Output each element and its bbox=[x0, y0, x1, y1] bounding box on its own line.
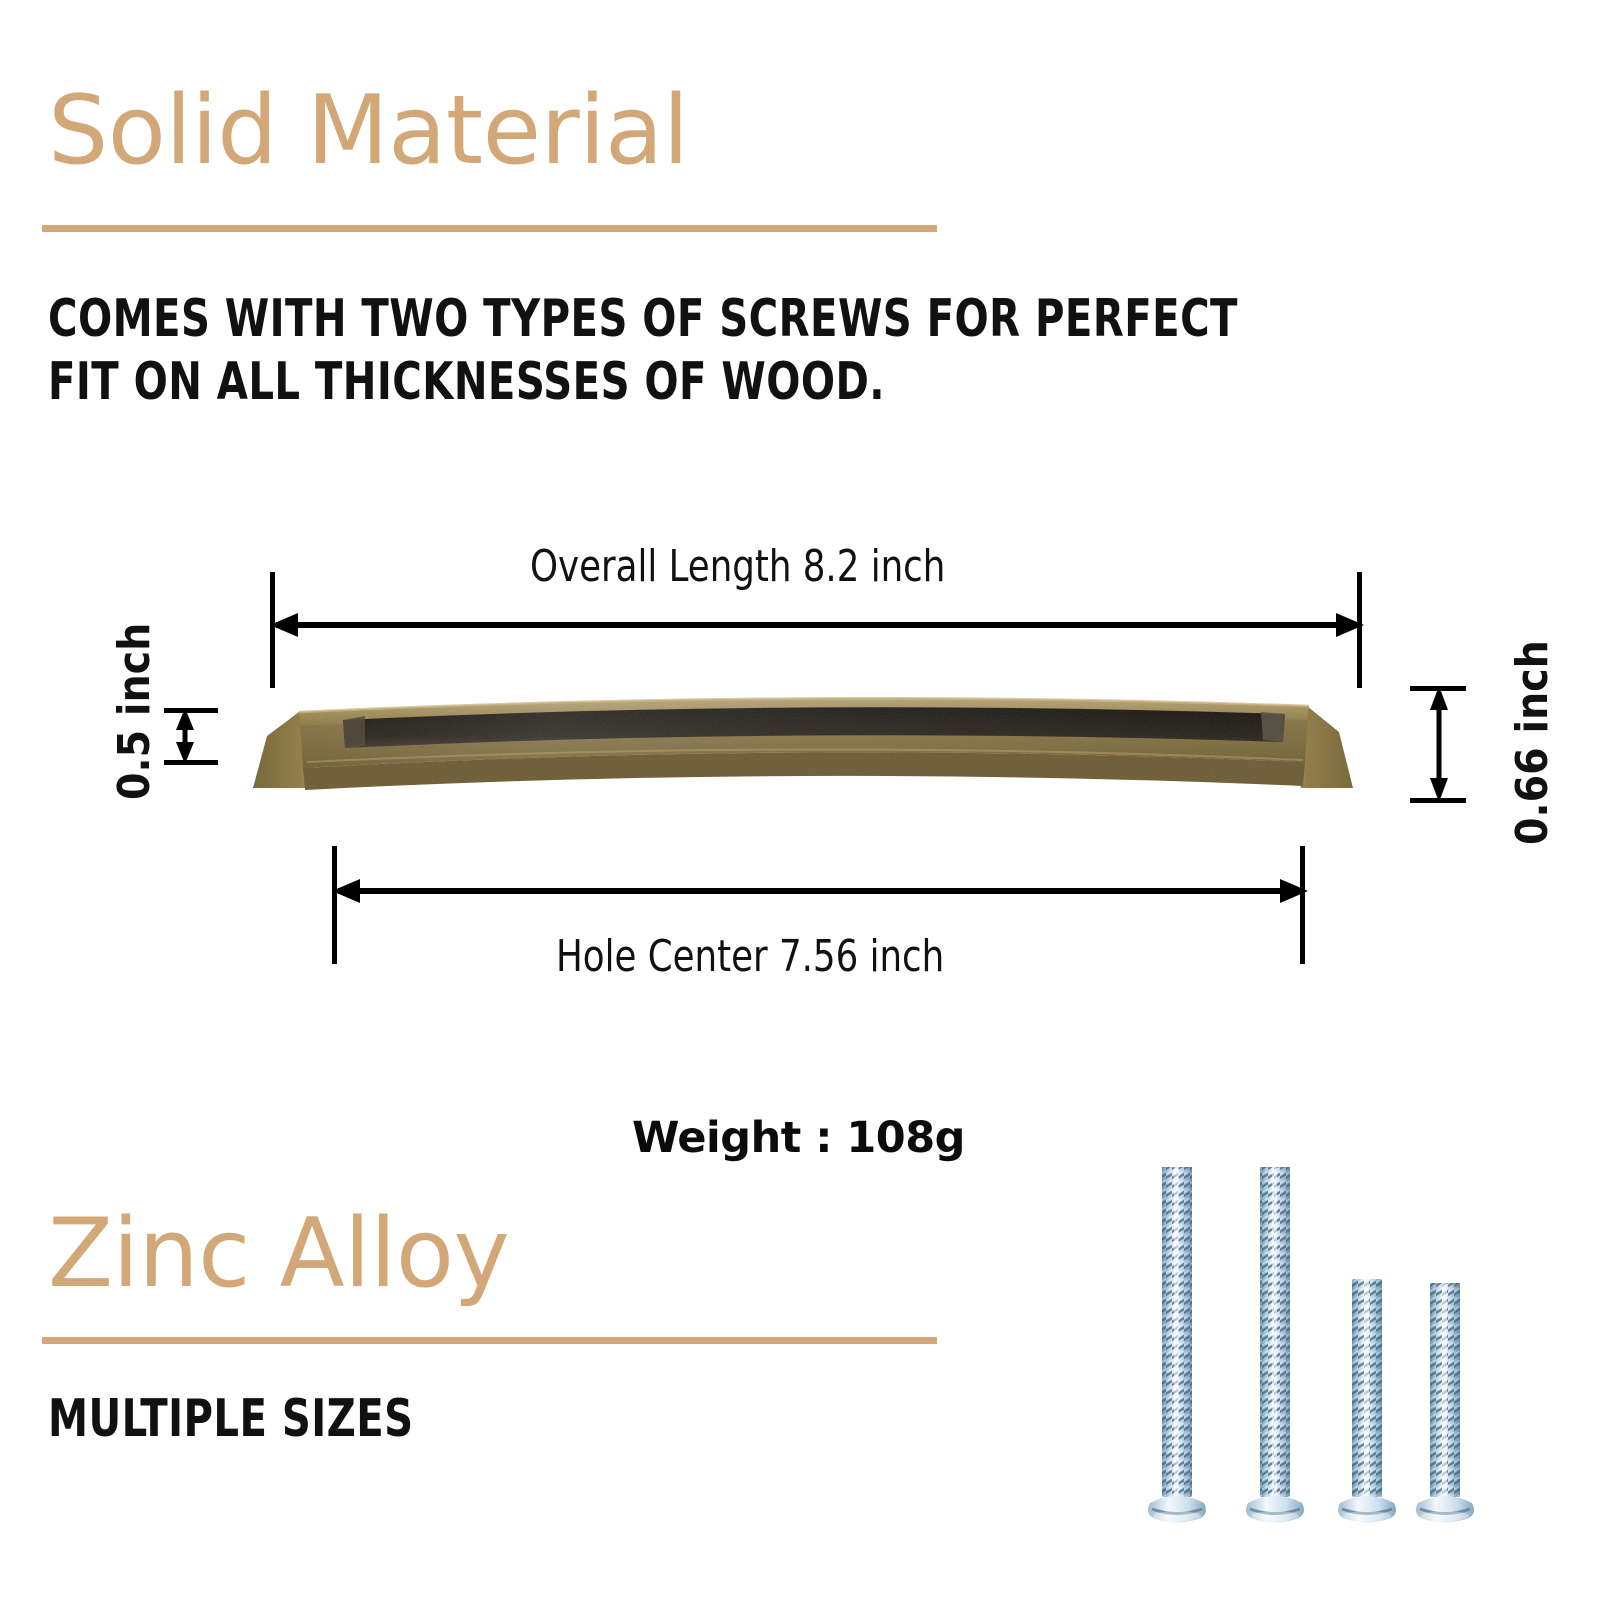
subheading-screws: COMES WITH TWO TYPES OF SCREWS FOR PERFE… bbox=[48, 288, 1527, 415]
left-height-label: 0.5 inch bbox=[109, 623, 160, 800]
left-height-dimension-arrow bbox=[168, 704, 202, 768]
product-infographic: Solid Material COMES WITH TWO TYPES OF S… bbox=[0, 0, 1600, 1600]
page-title-zinc-alloy: Zinc Alloy bbox=[48, 1207, 509, 1302]
hole-center-dimension-arrow bbox=[324, 866, 1316, 916]
long-screw-2 bbox=[1246, 1167, 1304, 1523]
cabinet-pull-handle-image bbox=[247, 676, 1359, 804]
hole-center-label: Hole Center 7.56 inch bbox=[556, 931, 944, 982]
handle-illustration bbox=[247, 676, 1359, 804]
screws-image bbox=[1112, 1135, 1480, 1555]
screws-illustration bbox=[1112, 1135, 1480, 1555]
short-screw-2 bbox=[1416, 1283, 1474, 1523]
right-height-label: 0.66 inch bbox=[1507, 640, 1558, 845]
right-height-dimension-arrow bbox=[1422, 682, 1456, 806]
divider-bottom bbox=[42, 1337, 937, 1344]
overall-length-label: Overall Length 8.2 inch bbox=[530, 541, 945, 592]
divider-top bbox=[42, 225, 937, 232]
page-title-solid-material: Solid Material bbox=[48, 84, 689, 179]
overall-length-dimension-arrow bbox=[262, 600, 1372, 650]
long-screw-1 bbox=[1148, 1167, 1206, 1523]
subheading-multiple-sizes: MULTIPLE SIZES bbox=[48, 1388, 414, 1451]
short-screw-1 bbox=[1338, 1279, 1396, 1523]
weight-label: Weight : 108g bbox=[632, 1113, 965, 1163]
